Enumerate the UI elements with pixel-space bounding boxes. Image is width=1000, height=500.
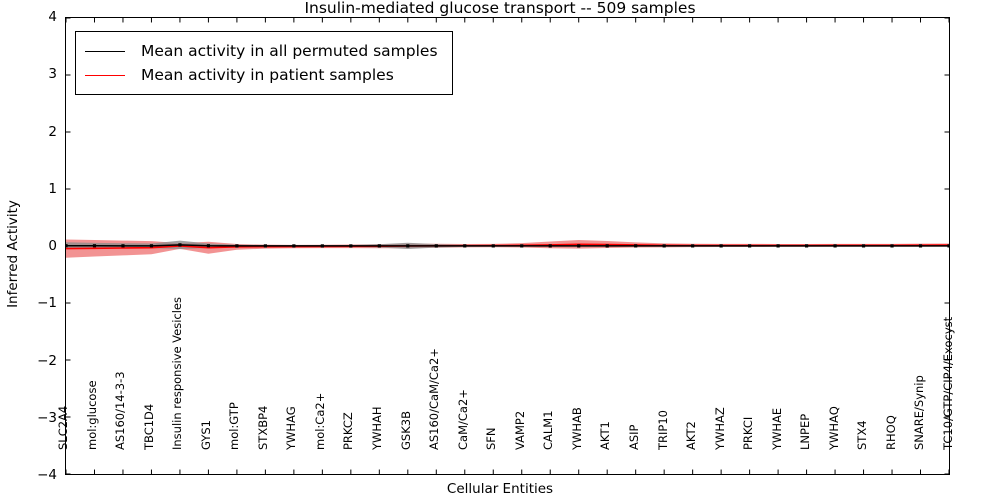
x-tick-label-anchor: mol:glucose [95, 449, 96, 450]
x-tick-label-anchor: SNARE/Synip [922, 449, 923, 450]
legend-line-red-icon [85, 75, 125, 76]
x-tick-label: PRKCI [741, 417, 755, 450]
x-tick-label: AS160/CaM/Ca2+ [427, 348, 441, 450]
x-tick-label: YWHAZ [713, 407, 727, 450]
data-point-marker [947, 244, 949, 247]
data-point-marker [890, 244, 893, 247]
data-point-marker [463, 244, 466, 247]
x-tick-label: SNARE/Synip [912, 375, 926, 450]
x-tick-label: YWHAQ [827, 406, 841, 450]
x-tick-label-anchor: AS160/14-3-3 [123, 449, 124, 450]
x-tick-label: RHOQ [884, 415, 898, 450]
data-point-marker [121, 244, 124, 247]
data-point-marker [207, 244, 210, 247]
data-point-marker [292, 244, 295, 247]
data-point-marker [606, 244, 609, 247]
x-tick-label-anchor: YWHAZ [723, 449, 724, 450]
x-tick-label-anchor: YWHAB [580, 449, 581, 450]
plot-area: Mean activity in all permuted samples Me… [65, 17, 950, 475]
data-point-marker [748, 244, 751, 247]
x-tick-label-anchor: PRKCI [751, 449, 752, 450]
x-tick-label-anchor: TRIP10 [666, 449, 667, 450]
legend-label-patient: Mean activity in patient samples [141, 66, 394, 84]
data-point-marker [93, 244, 96, 247]
data-point-marker [406, 244, 409, 247]
data-point-marker [492, 244, 495, 247]
data-point-marker [833, 244, 836, 247]
y-tick-label: 2 [5, 124, 57, 140]
x-tick-label: STX4 [855, 420, 869, 450]
x-tick-label-anchor: RHOQ [894, 449, 895, 450]
patient-confidence-band [66, 239, 949, 257]
data-point-marker [577, 244, 580, 247]
x-tick-label: GYS1 [199, 420, 213, 450]
data-point-marker [691, 244, 694, 247]
x-tick-label-anchor: LNPEP [808, 449, 809, 450]
chart-legend[interactable]: Mean activity in all permuted samples Me… [75, 31, 453, 95]
data-point-marker [321, 244, 324, 247]
x-tick-label-anchor: mol:GTP [237, 449, 238, 450]
data-point-marker [66, 244, 68, 247]
x-tick-label: mol:glucose [85, 380, 99, 450]
x-tick-label-anchor: Insulin responsive Vesicles [180, 449, 181, 450]
x-tick-label: YWHAH [370, 406, 384, 450]
x-tick-label-anchor: CaM/Ca2+ [466, 449, 467, 450]
x-tick-label-anchor: AS160/CaM/Ca2+ [437, 449, 438, 450]
data-point-marker [349, 244, 352, 247]
x-tick-label: mol:GTP [227, 402, 241, 450]
x-tick-label-anchor: STX4 [865, 449, 866, 450]
y-tick-label: −3 [5, 410, 57, 426]
x-tick-label: PRKCZ [341, 412, 355, 450]
y-tick-label: 3 [5, 66, 57, 82]
data-point-marker [862, 244, 865, 247]
x-tick-label-anchor: PRKCZ [351, 449, 352, 450]
x-tick-label-anchor: YWHAQ [837, 449, 838, 450]
x-tick-label-anchor: SLC2A4 [66, 449, 67, 450]
data-point-marker [663, 244, 666, 247]
x-tick-label-anchor: YWHAE [780, 449, 781, 450]
x-tick-label-anchor: GYS1 [209, 449, 210, 450]
data-point-marker [720, 244, 723, 247]
data-point-marker [178, 243, 181, 246]
x-tick-label: ASIP [627, 425, 641, 451]
x-tick-label: STXBP4 [256, 406, 270, 450]
x-tick-label: TC10/GTP/CIP4/Exocyst [941, 317, 955, 450]
x-tick-label: CaM/Ca2+ [456, 389, 470, 450]
x-tick-label-anchor: YWHAG [294, 449, 295, 450]
data-point-marker [378, 244, 381, 247]
y-axis-label: Inferred Activity [5, 144, 21, 364]
x-tick-label-anchor: AKT2 [694, 449, 695, 450]
x-tick-label: LNPEP [798, 414, 812, 450]
chart-title: Insulin-mediated glucose transport -- 50… [0, 0, 1000, 17]
x-tick-label-anchor: GSK3B [409, 449, 410, 450]
data-point-marker [805, 244, 808, 247]
x-tick-label: YWHAB [570, 407, 584, 450]
x-tick-label: GSK3B [399, 411, 413, 450]
x-tick-label: TRIP10 [656, 410, 670, 450]
x-tick-label-anchor: VAMP2 [523, 449, 524, 450]
data-point-marker [919, 244, 922, 247]
x-tick-label: CALM1 [541, 410, 555, 450]
data-point-marker [520, 244, 523, 247]
x-tick-label-anchor: ASIP [637, 449, 638, 450]
legend-item-permuted: Mean activity in all permuted samples [85, 39, 438, 63]
x-tick-label-anchor: SFN [494, 449, 495, 450]
legend-label-permuted: Mean activity in all permuted samples [141, 42, 438, 60]
data-point-marker [150, 244, 153, 247]
data-point-marker [435, 244, 438, 247]
x-tick-label: AKT2 [684, 421, 698, 450]
x-tick-label-anchor: CALM1 [551, 449, 552, 450]
x-tick-label-anchor: STXBP4 [266, 449, 267, 450]
x-tick-label: AKT1 [598, 421, 612, 450]
data-point-marker [235, 244, 238, 247]
x-tick-label-anchor: mol:Ca2+ [323, 449, 324, 450]
x-tick-label: mol:Ca2+ [313, 393, 327, 450]
x-tick-label: TBC1D4 [142, 404, 156, 450]
x-tick-label: Insulin responsive Vesicles [170, 297, 184, 450]
x-tick-label-anchor: AKT1 [608, 449, 609, 450]
x-axis-label: Cellular Entities [0, 481, 1000, 497]
data-point-marker [634, 244, 637, 247]
x-tick-label: AS160/14-3-3 [113, 371, 127, 450]
data-point-marker [777, 244, 780, 247]
x-tick-label: SLC2A4 [56, 406, 70, 450]
x-tick-label-anchor: TBC1D4 [152, 449, 153, 450]
data-point-marker [549, 244, 552, 247]
chart-figure: Insulin-mediated glucose transport -- 50… [0, 0, 1000, 500]
x-tick-label: YWHAE [770, 408, 784, 450]
legend-line-black-icon [85, 51, 125, 52]
legend-item-patient: Mean activity in patient samples [85, 63, 438, 87]
x-tick-label: SFN [484, 427, 498, 450]
x-tick-label-anchor: YWHAH [380, 449, 381, 450]
x-tick-label: YWHAG [284, 406, 298, 450]
x-tick-label-anchor: TC10/GTP/CIP4/Exocyst [951, 449, 952, 450]
data-point-marker [264, 244, 267, 247]
x-tick-label: VAMP2 [513, 411, 527, 450]
